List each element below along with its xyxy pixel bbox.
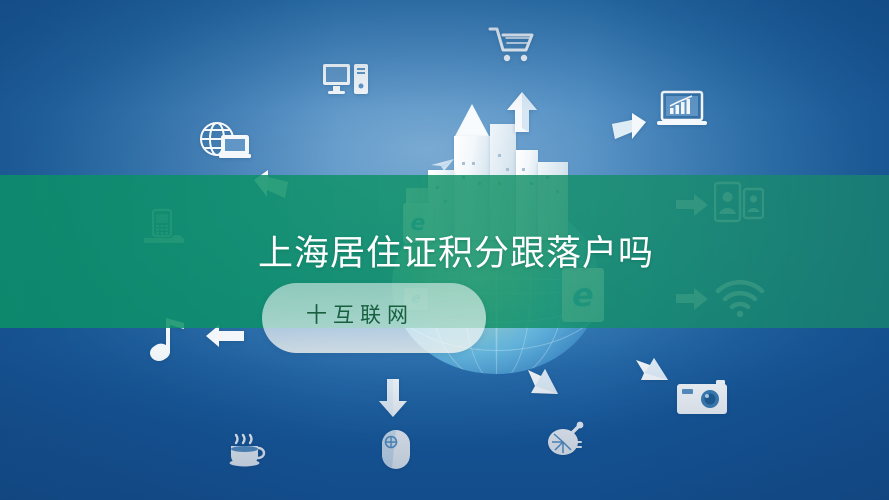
page-subtitle: 十互联网 [306,300,414,330]
banner-image: e e e [0,0,889,500]
page-title: 上海居住证积分跟落户吗 [258,230,678,278]
